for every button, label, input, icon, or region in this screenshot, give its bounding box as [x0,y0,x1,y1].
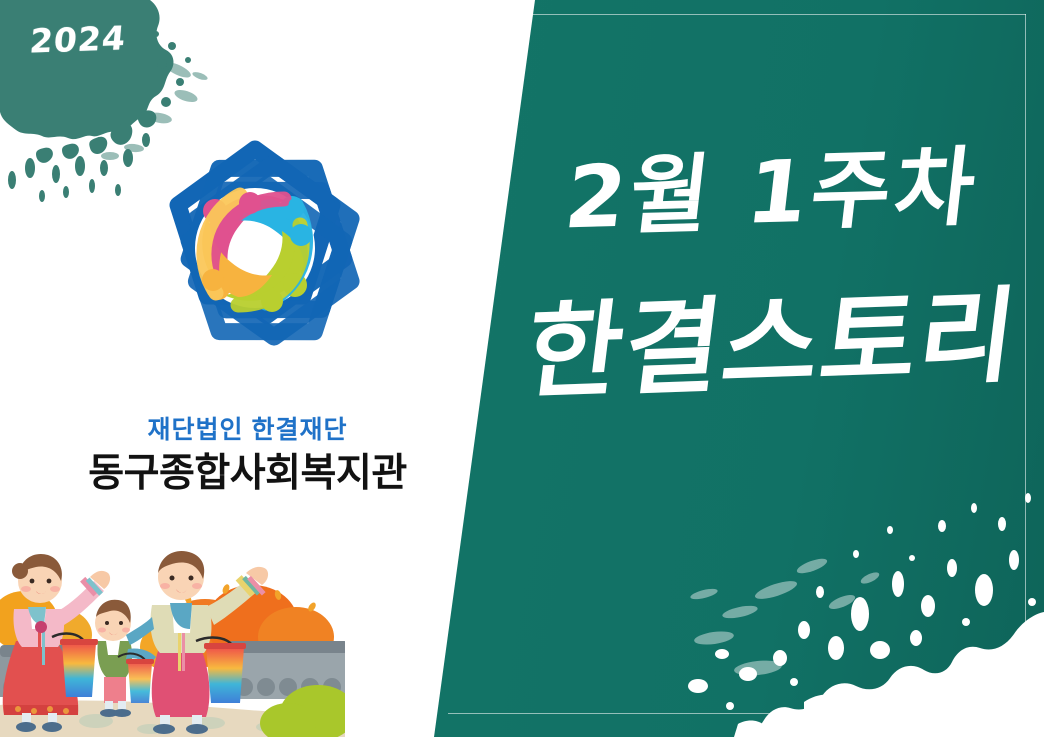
headline-block: 2월 1주차 한결스토리 [500,150,1044,396]
organization-block: 재단법인 한결재단 동구종합사회복지관 [0,415,495,499]
korean-family-illustration-icon [0,537,345,737]
headline-week-label: 2월 1주차 [494,143,1044,243]
foundation-name: 재단법인 한결재단 [0,415,495,446]
poster-canvas: 2024 [0,0,1044,737]
year-label: 2024 [28,18,128,60]
hangyeol-foundation-logo-icon [120,115,390,385]
headline-title: 한결스토리 [492,283,1044,406]
center-name: 동구종합사회복지관 [0,450,495,499]
